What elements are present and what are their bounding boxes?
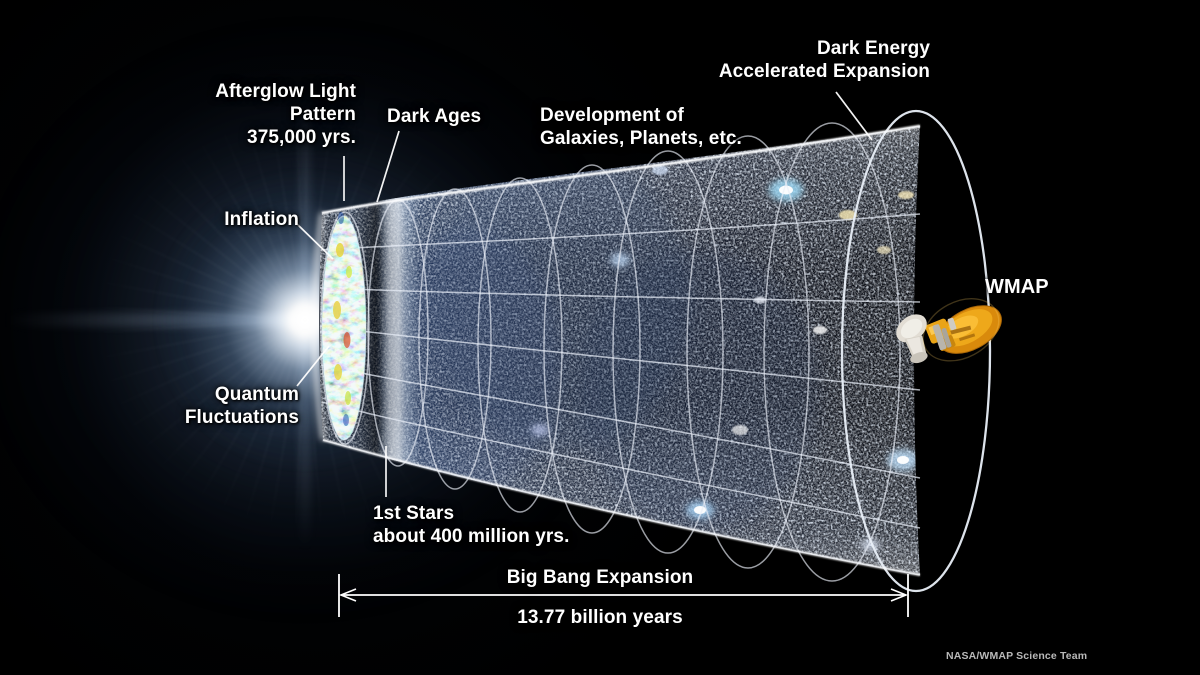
label-inflation: Inflation: [224, 208, 299, 231]
label-dark-energy: Dark Energy Accelerated Expansion: [704, 37, 930, 83]
label-dark-ages: Dark Ages: [387, 105, 481, 128]
cmb-afterglow-disk: [322, 212, 366, 440]
label-wmap: WMAP: [985, 275, 1049, 299]
label-development-of-galaxies: Development of Galaxies, Planets, etc.: [540, 104, 742, 150]
leader-dark-energy: [836, 92, 872, 140]
label-total-years: 13.77 billion years: [0, 606, 1200, 629]
credit-text: NASA/WMAP Science Team: [946, 650, 1087, 662]
label-first-stars: 1st Stars about 400 million yrs.: [373, 502, 569, 548]
label-quantum-fluctuations: Quantum Fluctuations: [185, 383, 299, 429]
leader-dark-ages: [377, 131, 399, 202]
diagram-canvas: Afterglow Light Pattern 375,000 yrs. Inf…: [0, 0, 1200, 675]
label-afterglow-light-pattern: Afterglow Light Pattern 375,000 yrs.: [215, 80, 356, 150]
label-big-bang-expansion: Big Bang Expansion: [0, 566, 1200, 589]
